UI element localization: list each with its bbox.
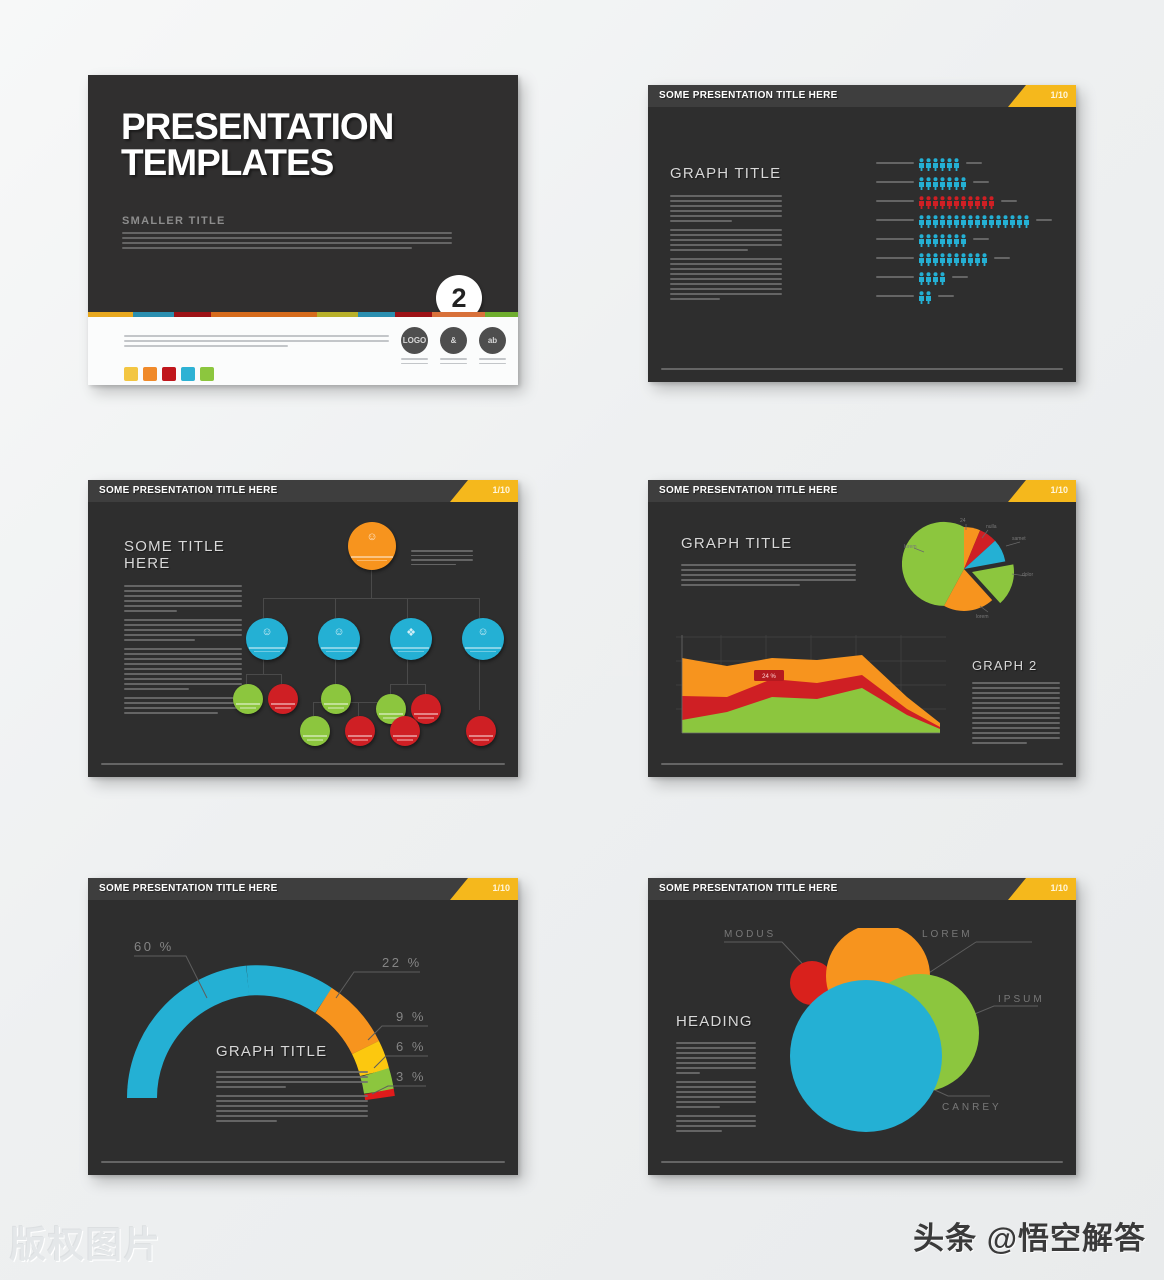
slide-4-header-title: SOME PRESENTATION TITLE HERE	[659, 485, 838, 496]
person-icon	[981, 215, 988, 228]
slide-4-graph2-block: GRAPH 2	[972, 658, 1060, 747]
person-icon	[960, 196, 967, 209]
slide-3-section-title: SOME TITLE HERE	[124, 538, 242, 572]
person-icon	[988, 196, 995, 209]
watermark-left: 版权图片	[10, 1216, 162, 1268]
cover-title-line1: PRESENTATION	[121, 109, 393, 145]
person-icon	[939, 253, 946, 266]
slide-2-graph-title: GRAPH TITLE	[670, 165, 782, 182]
org-connector	[281, 674, 282, 684]
gauge-label-3: 3 %	[396, 1069, 426, 1084]
cover-subtitle: SMALLER TITLE	[122, 215, 226, 227]
org-connector	[390, 684, 391, 694]
pictogram-chart	[876, 157, 1052, 309]
slide-5-footer	[101, 1161, 505, 1166]
bubble-label-lorem: LOREM	[922, 929, 973, 940]
org-node-label	[393, 647, 429, 652]
slide-6-header-bar: SOME PRESENTATION TITLE HERE 1/10	[648, 878, 1076, 900]
org-node-l2-2[interactable]: ☺	[318, 618, 360, 660]
org-connector	[263, 660, 264, 674]
pictogram-figure-group	[918, 291, 932, 304]
person-icon	[925, 158, 932, 171]
pictogram-row-label	[876, 162, 914, 167]
org-node-icon: ❖	[390, 626, 432, 639]
person-icon	[946, 196, 953, 209]
person-icon	[946, 253, 953, 266]
pictogram-row	[876, 290, 1052, 305]
person-icon	[939, 196, 946, 209]
person-icon	[953, 215, 960, 228]
person-icon	[946, 215, 953, 228]
pictogram-row-value	[1036, 219, 1052, 224]
cover-title-line2: TEMPLATES	[121, 145, 393, 181]
person-icon	[974, 215, 981, 228]
org-chart-diagram: ☺☺☺❖☺	[238, 510, 506, 740]
org-node-label	[351, 556, 393, 561]
bubble-chart-svg: MODUS LOREM IPSUM CANREY	[708, 928, 1068, 1158]
org-node-l3-2[interactable]	[268, 684, 298, 714]
person-icon	[960, 234, 967, 247]
logo-caption-1	[401, 358, 428, 364]
gauge-seg-22	[324, 1001, 366, 1048]
swatch-orange	[143, 367, 157, 381]
pictogram-row-value	[938, 295, 954, 300]
gauge-label-60: 60 %	[134, 939, 174, 954]
slide-2-header-title: SOME PRESENTATION TITLE HERE	[659, 90, 838, 101]
org-node-label	[271, 703, 295, 708]
swatch-green	[200, 367, 214, 381]
person-icon	[932, 177, 939, 190]
org-node-label	[321, 647, 357, 652]
org-node-label	[348, 735, 372, 740]
person-icon	[974, 253, 981, 266]
pictogram-row-value	[973, 238, 989, 243]
org-connector	[246, 674, 247, 684]
slide-2-text-block: GRAPH TITLE	[670, 165, 782, 307]
org-node-l2-3[interactable]: ❖	[390, 618, 432, 660]
logo-caption-2	[440, 358, 467, 364]
person-icon	[918, 272, 925, 285]
person-icon	[925, 253, 932, 266]
person-icon	[939, 158, 946, 171]
person-icon	[918, 158, 925, 171]
pictogram-row-value	[1001, 200, 1017, 205]
swatch-yellow	[124, 367, 138, 381]
pictogram-row-value	[994, 257, 1010, 262]
person-icon	[932, 196, 939, 209]
gauge-seg-3	[379, 1092, 380, 1099]
slide-4-graph-title: GRAPH TITLE	[681, 535, 856, 552]
slide-2-page-number: 1/10	[1050, 90, 1068, 100]
area-tooltip-label: 24 %	[762, 674, 776, 680]
org-connector	[246, 674, 281, 675]
screenshot-canvas: Dreamstime time PRESENTATION TEMPLATES S…	[0, 0, 1164, 1280]
gauge-label-9: 9 %	[396, 1009, 426, 1024]
person-icon	[925, 196, 932, 209]
slide-2-pictogram[interactable]: SOME PRESENTATION TITLE HERE 1/10 GRAPH …	[648, 85, 1076, 382]
pictogram-figure-group	[918, 272, 946, 285]
typography-icon: ab	[479, 327, 506, 354]
svg-text:lorem: lorem	[904, 544, 917, 550]
slide-4-page-number: 1/10	[1050, 485, 1068, 495]
person-icon	[995, 215, 1002, 228]
person-icon	[939, 215, 946, 228]
org-node-l2-4[interactable]: ☺	[462, 618, 504, 660]
person-icon	[953, 158, 960, 171]
person-icon	[939, 177, 946, 190]
org-node-label	[303, 735, 327, 740]
logo-item-1: LOGO	[401, 327, 428, 367]
pictogram-row-label	[876, 238, 914, 243]
pictogram-figure-group	[918, 215, 1030, 228]
person-icon	[988, 215, 995, 228]
cover-body-text	[122, 232, 452, 252]
person-icon	[1023, 215, 1030, 228]
person-icon	[1009, 215, 1016, 228]
org-node-icon: ☺	[348, 531, 396, 543]
pictogram-row	[876, 271, 1052, 286]
org-connector	[358, 702, 359, 716]
org-node-l4-1[interactable]	[300, 716, 330, 746]
org-connector	[335, 660, 336, 674]
person-icon	[925, 215, 932, 228]
pictogram-figure-group	[918, 196, 995, 209]
org-connector	[335, 674, 336, 684]
pictogram-row-value	[966, 162, 982, 167]
person-icon	[932, 158, 939, 171]
slide-6-header-title: SOME PRESENTATION TITLE HERE	[659, 883, 838, 894]
pie-chart: 24 nulla samet dolor lorem lorem	[902, 514, 1062, 624]
bubble-label-ipsum: IPSUM	[998, 994, 1045, 1005]
person-icon	[974, 196, 981, 209]
person-icon	[939, 272, 946, 285]
svg-text:samet: samet	[1012, 536, 1026, 542]
org-connector	[313, 702, 314, 716]
pie-chart-svg: 24 nulla samet dolor lorem lorem	[902, 514, 1062, 624]
svg-text:lorem: lorem	[976, 614, 989, 620]
svg-text:nulla: nulla	[986, 524, 997, 530]
ampersand-icon: &	[440, 327, 467, 354]
slide-4-header-bar: SOME PRESENTATION TITLE HERE 1/10	[648, 480, 1076, 502]
pictogram-row	[876, 214, 1052, 229]
slide-5-header-bar: SOME PRESENTATION TITLE HERE 1/10	[88, 878, 518, 900]
org-node-l3-3[interactable]	[321, 684, 351, 714]
org-node-icon: ☺	[462, 626, 504, 638]
person-icon	[925, 291, 932, 304]
person-icon	[939, 234, 946, 247]
person-icon	[1016, 215, 1023, 228]
person-icon	[925, 272, 932, 285]
org-chart-note	[411, 550, 473, 568]
slide-6-bubbles[interactable]: SOME PRESENTATION TITLE HERE 1/10 HEADIN…	[648, 878, 1076, 1175]
person-icon	[918, 291, 925, 304]
org-connector	[407, 660, 408, 684]
gauge-label-22: 22 %	[382, 955, 422, 970]
person-icon	[960, 253, 967, 266]
person-icon	[932, 234, 939, 247]
person-icon	[932, 272, 939, 285]
org-node-root[interactable]: ☺	[348, 522, 396, 570]
person-icon	[953, 196, 960, 209]
org-node-label	[324, 703, 348, 708]
org-connector	[263, 598, 479, 599]
pictogram-row	[876, 195, 1052, 210]
slide-3-page-number: 1/10	[492, 485, 510, 495]
person-icon	[918, 253, 925, 266]
cover-white-panel: LOGO & ab	[88, 317, 518, 385]
slide-3-org-chart[interactable]: SOME PRESENTATION TITLE HERE 1/10 SOME T…	[88, 480, 518, 777]
person-icon	[1002, 215, 1009, 228]
svg-text:dolor: dolor	[1022, 572, 1033, 578]
person-icon	[918, 215, 925, 228]
person-icon	[932, 215, 939, 228]
pictogram-figure-group	[918, 177, 967, 190]
org-connector	[371, 570, 372, 598]
org-node-l3-1[interactable]	[233, 684, 263, 714]
person-icon	[946, 234, 953, 247]
pictogram-row-value	[952, 276, 968, 281]
cover-logo-row: LOGO & ab	[401, 327, 506, 367]
pictogram-figure-group	[918, 253, 988, 266]
logo-mark-icon: LOGO	[401, 327, 428, 354]
bubble-label-modus: MODUS	[724, 929, 776, 940]
pictogram-row	[876, 157, 1052, 172]
slide-2-header-bar: SOME PRESENTATION TITLE HERE 1/10	[648, 85, 1076, 107]
watermark-right: 头条 @悟空解答	[913, 1213, 1146, 1258]
slide-5-header-title: SOME PRESENTATION TITLE HERE	[99, 883, 278, 894]
area-chart-svg: 24 %	[676, 635, 946, 743]
slide-5-graph-title: GRAPH TITLE	[216, 1043, 368, 1060]
person-icon	[925, 234, 932, 247]
slide-6-footer	[661, 1161, 1063, 1166]
swatch-cyan	[181, 367, 195, 381]
slide-4-text-block: GRAPH TITLE	[681, 535, 856, 589]
org-node-l4-2[interactable]	[345, 716, 375, 746]
pictogram-row	[876, 233, 1052, 248]
slide-1-cover[interactable]: PRESENTATION TEMPLATES SMALLER TITLE 2	[88, 75, 518, 385]
cover-footer-text	[124, 335, 389, 350]
pictogram-row-label	[876, 181, 914, 186]
slide-3-header-bar: SOME PRESENTATION TITLE HERE 1/10	[88, 480, 518, 502]
pictogram-figure-group	[918, 234, 967, 247]
org-node-icon: ☺	[318, 626, 360, 638]
org-connector	[335, 598, 336, 618]
org-connector	[390, 684, 425, 685]
person-icon	[946, 158, 953, 171]
person-icon	[967, 253, 974, 266]
org-node-label	[249, 647, 285, 652]
slide-4-graph2-title: GRAPH 2	[972, 658, 1060, 673]
person-icon	[960, 177, 967, 190]
org-node-l2-1[interactable]: ☺	[246, 618, 288, 660]
pictogram-row-value	[973, 181, 989, 186]
slide-3-footer	[101, 763, 505, 768]
org-node-label	[236, 703, 260, 708]
org-node-label	[469, 735, 493, 740]
org-node-l4-4[interactable]	[466, 716, 496, 746]
swatch-red	[162, 367, 176, 381]
area-chart: 24 %	[676, 635, 946, 743]
pictogram-figure-group	[918, 158, 960, 171]
logo-item-3: ab	[479, 327, 506, 367]
person-icon	[932, 253, 939, 266]
cover-title: PRESENTATION TEMPLATES	[121, 109, 393, 180]
gauge-seg-6	[375, 1073, 379, 1092]
org-connector	[263, 598, 264, 618]
slide-5-text-block: GRAPH TITLE	[216, 1043, 368, 1129]
org-node-l4-3[interactable]	[390, 716, 420, 746]
person-icon	[953, 253, 960, 266]
area-tooltip: 24 %	[754, 670, 784, 681]
person-icon	[967, 215, 974, 228]
slide-3-text-block: SOME TITLE HERE	[124, 538, 242, 721]
org-node-label	[414, 713, 438, 718]
slide-5-page-number: 1/10	[492, 883, 510, 893]
person-icon	[967, 196, 974, 209]
org-connector	[407, 598, 408, 618]
person-icon	[918, 234, 925, 247]
gauge-label-6: 6 %	[396, 1039, 426, 1054]
gauge-seg-60b	[248, 980, 324, 1000]
person-icon	[918, 196, 925, 209]
pictogram-row	[876, 176, 1052, 191]
org-node-label	[393, 735, 417, 740]
svg-text:24: 24	[960, 518, 966, 524]
logo-item-2: &	[440, 327, 467, 367]
slide-5-gauge[interactable]: SOME PRESENTATION TITLE HERE 1/10	[88, 878, 518, 1175]
person-icon	[946, 177, 953, 190]
person-icon	[925, 177, 932, 190]
slide-3-header-title: SOME PRESENTATION TITLE HERE	[99, 485, 278, 496]
org-connector	[479, 598, 480, 618]
pictogram-row-label	[876, 219, 914, 224]
person-icon	[953, 177, 960, 190]
pictogram-row-label	[876, 295, 914, 300]
person-icon	[918, 177, 925, 190]
person-icon	[981, 253, 988, 266]
pictogram-row-label	[876, 200, 914, 205]
org-connector	[425, 684, 426, 694]
slide-2-footer	[661, 368, 1063, 373]
pictogram-row-label	[876, 257, 914, 262]
person-icon	[960, 215, 967, 228]
logo-caption-3	[479, 358, 506, 364]
bubble-canrey	[790, 980, 942, 1132]
slide-6-page-number: 1/10	[1050, 883, 1068, 893]
org-node-icon: ☺	[246, 626, 288, 638]
org-node-label	[465, 647, 501, 652]
pictogram-row-label	[876, 276, 914, 281]
cover-swatch-row	[124, 367, 214, 381]
pictogram-row	[876, 252, 1052, 267]
slide-4-footer	[661, 763, 1063, 768]
slide-4-charts[interactable]: SOME PRESENTATION TITLE HERE 1/10 GRAPH …	[648, 480, 1076, 777]
person-icon	[953, 234, 960, 247]
org-connector	[479, 660, 480, 710]
person-icon	[981, 196, 988, 209]
bubble-label-canrey: CANREY	[942, 1102, 1002, 1113]
